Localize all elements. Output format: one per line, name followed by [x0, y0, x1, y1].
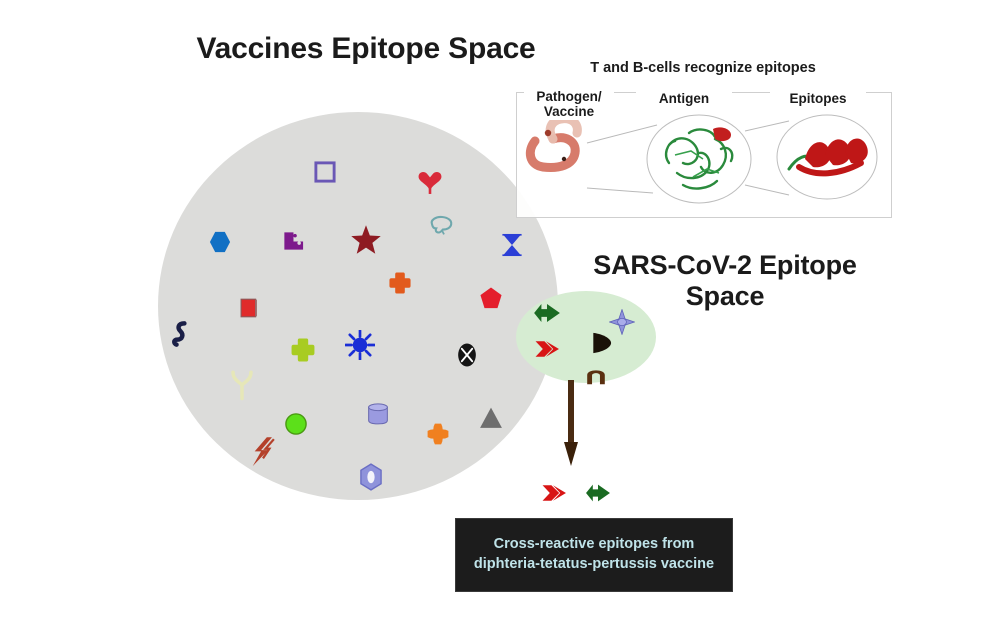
diagram-canvas: Vaccines Epitope Space SARS-CoV-2 Epitop…	[0, 0, 1007, 620]
result-arrow-red	[541, 480, 567, 506]
antibody-y-epitope	[226, 369, 258, 401]
blob-outline-epitope	[426, 211, 456, 241]
arch-brown-epitope	[585, 364, 607, 386]
arrow-red-epitope	[534, 336, 560, 362]
sars-cov-2-epitope-space-title: SARS-CoV-2 Epitope Space	[560, 250, 890, 312]
cross-reactive-epitope-arrows	[540, 480, 630, 506]
plus-orange-epitope	[425, 421, 451, 447]
cylinder-epitope	[365, 401, 391, 427]
vaccines-epitope-space-title: Vaccines Epitope Space	[196, 32, 536, 67]
cross-round-epitope	[388, 271, 412, 295]
donut-hex-epitope	[357, 463, 385, 491]
lightning-epitope	[247, 436, 279, 468]
heart-epitope	[417, 169, 443, 195]
epitope-helix-icon	[777, 115, 877, 199]
caption-box: Cross-reactive epitopes from diphteria-t…	[455, 518, 733, 592]
down-arrow-icon	[564, 380, 578, 466]
down-arrow	[564, 380, 578, 466]
square-outline-epitope	[313, 160, 337, 184]
antigen-protein-icon	[647, 115, 751, 203]
triangle-epitope	[478, 405, 504, 431]
cross-green-epitope	[290, 337, 316, 363]
star-epitope	[350, 224, 382, 256]
puzzle-epitope	[281, 229, 305, 253]
pac-black-epitope	[589, 331, 613, 355]
hourglass-epitope	[500, 233, 524, 257]
hexagon-epitope	[208, 230, 232, 254]
squiggle-epitope	[167, 320, 195, 348]
pathogen-worm-icon	[530, 119, 577, 168]
inset-label-antigen: Antigen	[636, 92, 732, 107]
sunburst-epitope	[345, 330, 375, 360]
circle-green-epitope	[284, 412, 308, 436]
inset-heading: T and B-cells recognize epitopes	[516, 60, 890, 76]
caption-text: Cross-reactive epitopes from diphteria-t…	[456, 535, 732, 574]
oval-x-epitope	[454, 342, 480, 368]
square-filled-epitope	[238, 297, 260, 319]
inset-label-pathogen: Pathogen/ Vaccine	[524, 90, 614, 120]
pentagon-epitope	[479, 286, 503, 310]
double-arrow-green-epitope	[533, 299, 561, 327]
inset-label-epitopes: Epitopes	[770, 92, 866, 107]
result-arrow-green	[585, 480, 611, 506]
